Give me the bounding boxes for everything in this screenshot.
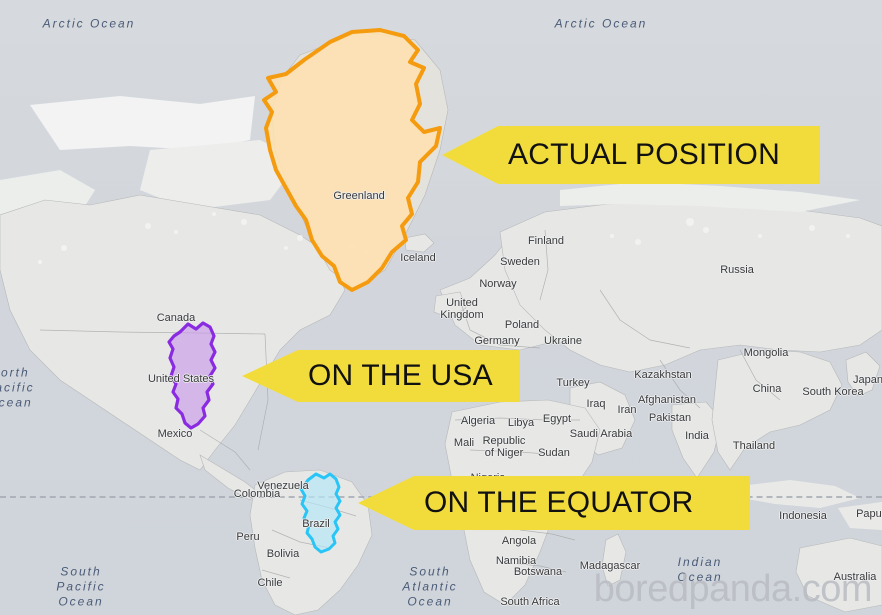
callout-on-the-usa-label: ON THE USA [298, 350, 520, 402]
overlay-greenland-actual [264, 30, 440, 290]
arrow-head-icon [242, 350, 298, 402]
arrow-head-icon [358, 476, 414, 530]
callout-on-the-usa[interactable]: ON THE USA [242, 350, 520, 402]
overlay-greenland-on-usa [169, 323, 215, 428]
callout-actual-position-label: ACTUAL POSITION [498, 126, 820, 184]
world-map-infographic: Arctic OceanArctic OceanNorth Pacific Oc… [0, 0, 882, 615]
arrow-head-icon [442, 126, 498, 184]
callout-on-the-equator[interactable]: ON THE EQUATOR [358, 476, 750, 530]
callout-on-the-equator-label: ON THE EQUATOR [414, 476, 750, 530]
overlay-greenland-on-equator [301, 474, 340, 552]
callout-actual-position[interactable]: ACTUAL POSITION [442, 126, 820, 184]
